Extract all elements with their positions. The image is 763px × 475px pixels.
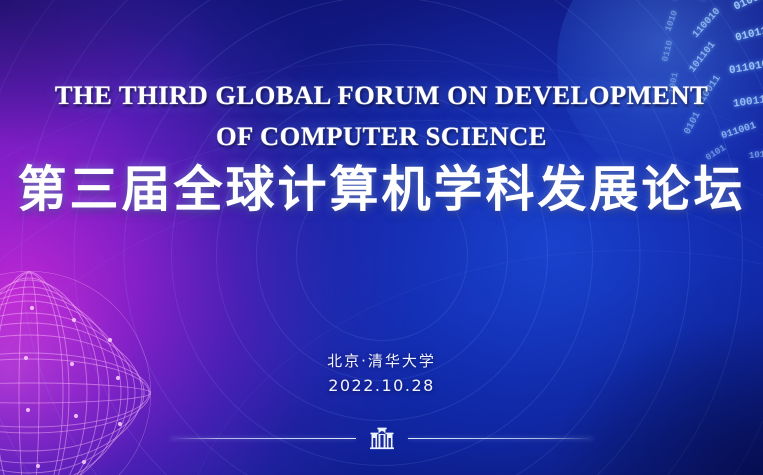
- tsinghua-gate-emblem: [365, 426, 399, 450]
- venue-text: 北京·清华大学: [0, 350, 763, 371]
- poster-canvas: 0101110010010101010010101001101101011001…: [0, 0, 763, 475]
- title-english-line-1: THE THIRD GLOBAL FORUM ON DEVELOPMENT: [0, 80, 763, 110]
- ornamental-divider: [170, 424, 593, 452]
- title-english-line-2: OF COMPUTER SCIENCE: [0, 121, 763, 151]
- date-text: 2022.10.28: [0, 376, 763, 395]
- divider-rule-right: [408, 438, 594, 439]
- poster-content: THE THIRD GLOBAL FORUM ON DEVELOPMENT OF…: [0, 0, 763, 475]
- title-chinese: 第三届全球计算机学科发展论坛: [0, 160, 763, 220]
- divider-rule-left: [170, 438, 356, 439]
